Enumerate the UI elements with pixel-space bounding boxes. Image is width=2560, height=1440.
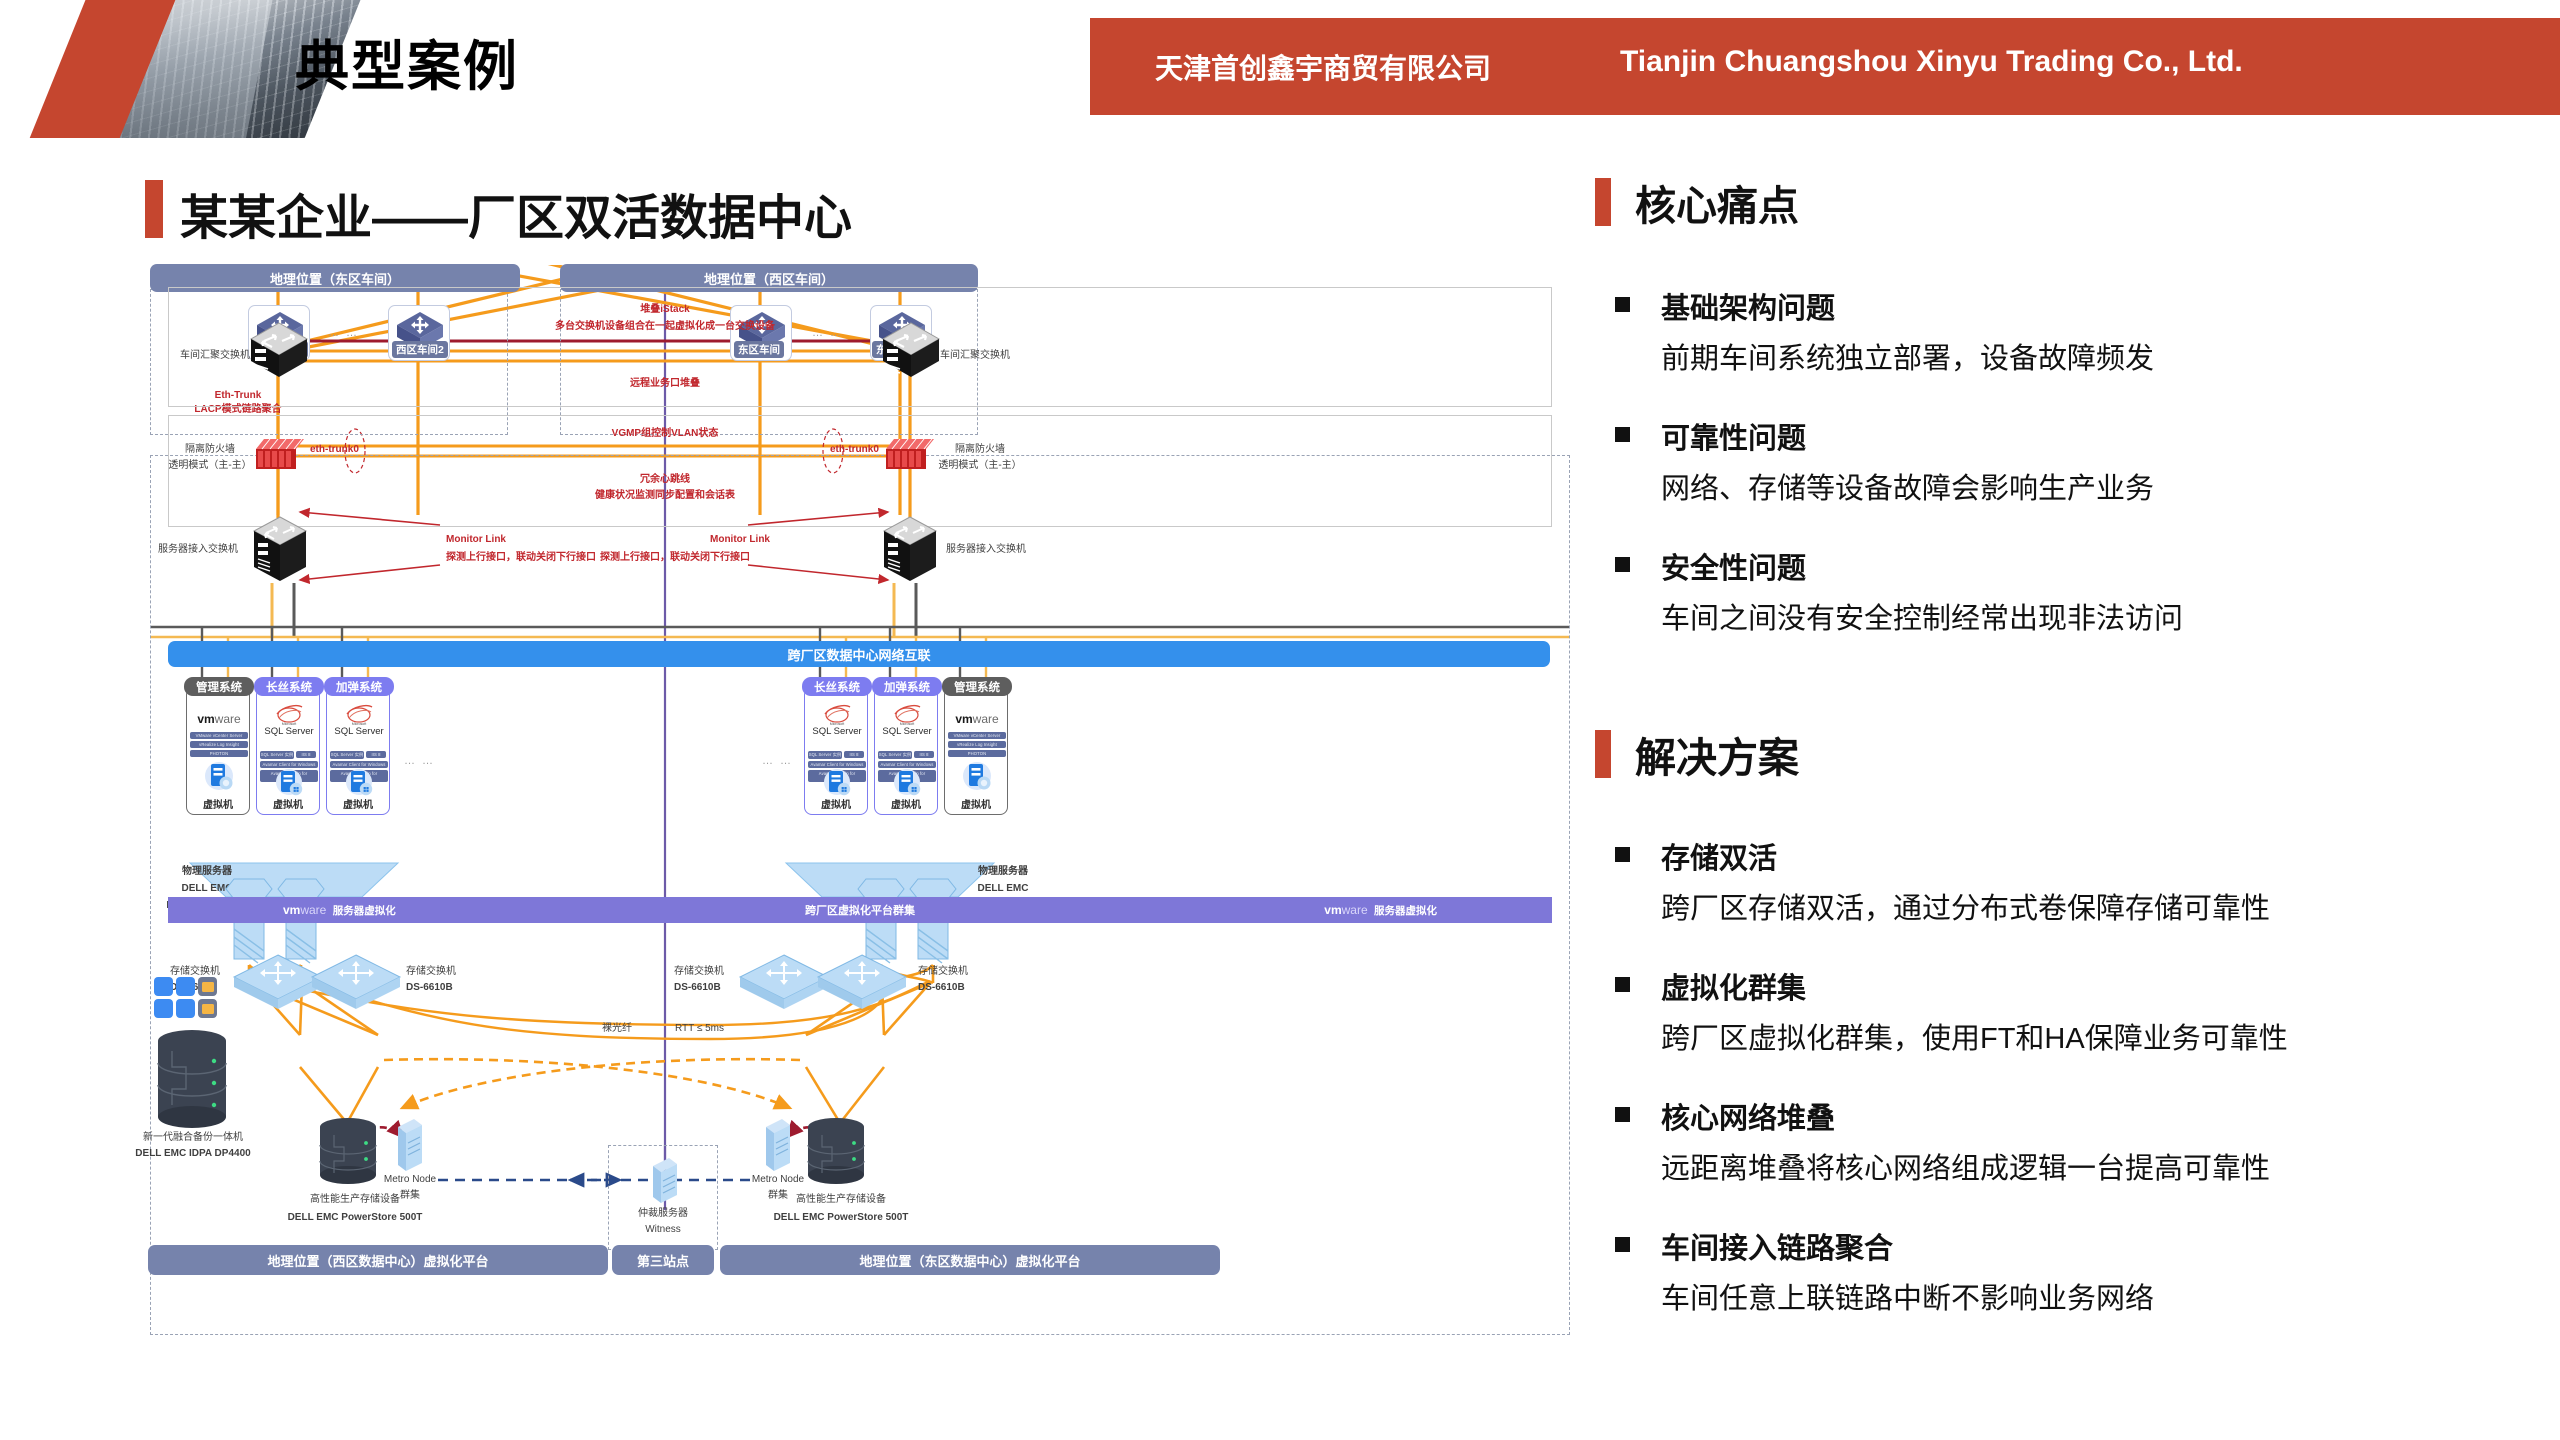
slide-root: 典型案例 天津首创鑫宇商贸有限公司 Tianjin Chuangshou Xin… (0, 0, 2560, 1440)
header-band: 典型案例 天津首创鑫宇商贸有限公司 Tianjin Chuangshou Xin… (0, 0, 2560, 130)
solution-item-title: 虚拟化群集 (1661, 965, 1806, 1007)
backup-label-l2: DELL EMC IDPA DP4400 (122, 1147, 264, 1161)
backup-icon-grid (154, 977, 217, 1018)
backup-folder-icon (198, 977, 217, 996)
prod-store-left-l2: DELL EMC PowerStore 500T (270, 1211, 440, 1225)
storage-switch-right-l2: DS-6610B (674, 981, 721, 995)
storage-switch-left2-l2: DS-6610B (406, 981, 453, 995)
bullet-square-icon (1615, 1237, 1630, 1252)
pain-item-desc: 网络、存储等设备故障会影响生产业务 (1661, 465, 2154, 507)
solution-item-desc: 远距离堆叠将核心网络组成逻辑一台提高可靠性 (1661, 1145, 2270, 1187)
left-title-tick (145, 180, 163, 238)
solution-item-desc: 跨厂区存储双活，通过分布式卷保障存储可靠性 (1661, 885, 2270, 927)
witness-server-icon (646, 1157, 682, 1209)
metro-node-right-icon (758, 1117, 794, 1179)
storage-switch-right2-l1: 存储交换机 (918, 965, 968, 979)
bullet-square-icon (1615, 847, 1630, 862)
backup-db-icon (154, 977, 173, 996)
pain-item-desc: 车间之间没有安全控制经常出现非法访问 (1661, 595, 2183, 637)
pain-item-title: 基础架构问题 (1661, 285, 1835, 327)
backup-db-icon (176, 977, 195, 996)
production-storage-right-icon (806, 1117, 876, 1189)
page-title: 典型案例 (295, 22, 519, 101)
architecture-diagram: 地理位置（东区车间） 地理位置（西区车间） 西区车间1 西区车间2 … … (150, 265, 1570, 1355)
metro-node-left-icon (390, 1117, 426, 1179)
solution-item-desc: 跨厂区虚拟化群集，使用FT和HA保障业务可靠性 (1661, 1015, 2288, 1057)
witness-label-l1: 仲裁服务器 (620, 1207, 706, 1221)
solution-heading-tick (1595, 730, 1611, 778)
company-name-cn: 天津首创鑫宇商贸有限公司 (1155, 47, 1491, 87)
backup-appliance-icon (150, 1025, 280, 1135)
bullet-square-icon (1615, 427, 1630, 442)
storage-switch-left2-l1: 存储交换机 (406, 965, 456, 979)
pain-item-desc: 前期车间系统独立部署，设备故障频发 (1661, 335, 2154, 377)
pain-item-title: 安全性问题 (1661, 545, 1806, 587)
location-bar-east-datacenter: 地理位置（东区数据中心）虚拟化平台 (720, 1245, 1220, 1275)
storage-switch-right-l1: 存储交换机 (674, 965, 724, 979)
storage-switch-icons (150, 265, 1570, 1355)
solution-item-title: 车间接入链路聚合 (1661, 1225, 1893, 1267)
prod-store-right-l2: DELL EMC PowerStore 500T (756, 1211, 926, 1225)
pain-heading-tick (1595, 178, 1611, 226)
solution-item-desc: 车间任意上联链路中断不影响业务网络 (1661, 1275, 2154, 1317)
backup-db-icon (176, 999, 195, 1018)
backup-db-icon (154, 999, 173, 1018)
backup-label-l1: 新一代融合备份一体机 (128, 1131, 258, 1145)
bullet-square-icon (1615, 977, 1630, 992)
metro-right-l2: 群集 (740, 1189, 816, 1203)
solution-item-title: 核心网络堆叠 (1661, 1095, 1835, 1137)
storage-switch-right2-l2: DS-6610B (918, 981, 965, 995)
location-bar-west-datacenter: 地理位置（西区数据中心）虚拟化平台 (148, 1245, 608, 1275)
company-name-en: Tianjin Chuangshou Xinyu Trading Co., Lt… (1620, 45, 2243, 79)
metro-left-l2: 群集 (372, 1189, 448, 1203)
metro-left-l1: Metro Node (372, 1173, 448, 1187)
pain-item-title: 可靠性问题 (1661, 415, 1806, 457)
bullet-square-icon (1615, 1107, 1630, 1122)
solution-heading: 解决方案 (1635, 724, 1799, 784)
solution-item-title: 存储双活 (1661, 835, 1777, 877)
metro-right-l1: Metro Node (740, 1173, 816, 1187)
pain-heading: 核心痛点 (1635, 172, 1799, 232)
bullet-square-icon (1615, 557, 1630, 572)
left-section-title: 某某企业——厂区双活数据中心 (180, 178, 852, 248)
backup-folder-icon (198, 999, 217, 1018)
bullet-square-icon (1615, 297, 1630, 312)
witness-label-l2: Witness (620, 1223, 706, 1237)
location-bar-third-site: 第三站点 (612, 1245, 714, 1275)
